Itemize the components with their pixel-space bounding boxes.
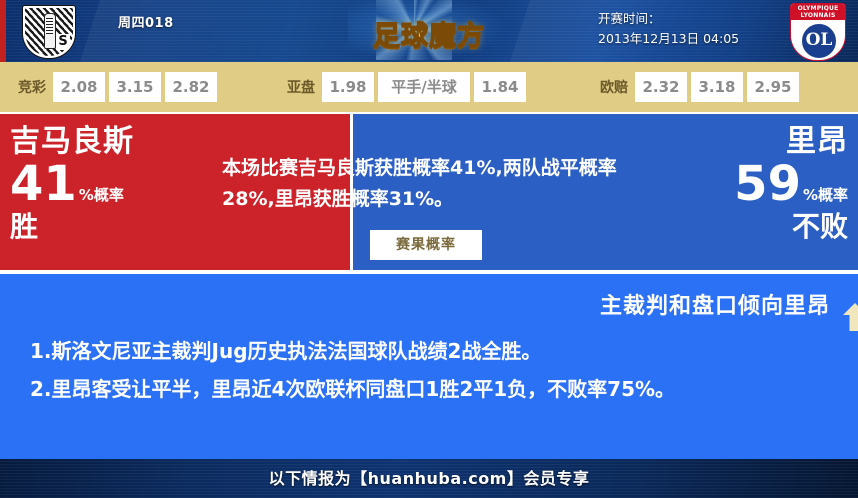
away-crest-band-line2: LYONNAIS (791, 12, 845, 19)
away-crest-monogram: OL (801, 23, 837, 59)
away-crest-shield: OLYMPIQUE LYONNAIS OL (790, 3, 846, 61)
home-probability-value: 41 (10, 160, 77, 208)
crest-figure (44, 13, 56, 49)
odds-yapan-away[interactable]: 1.84 (474, 72, 526, 102)
tilt-headline: 主裁判和盘口倾向里昂 (600, 288, 842, 320)
home-probability-suffix: %概率 (77, 188, 124, 208)
odds-group-oupei: 欧赔 2.32 3.18 2.95 (600, 72, 803, 102)
away-team-name: 里昂 (658, 124, 848, 160)
probability-section-tag: 赛果概率 (370, 230, 482, 260)
home-probability-row: 41 %概率 (10, 160, 190, 208)
odds-jingcai-away[interactable]: 2.82 (165, 72, 217, 102)
odds-yapan-home[interactable]: 1.98 (322, 72, 374, 102)
insight-panel: 主裁判和盘口倾向里昂 1.斯洛文尼亚主裁判Jug历史执法法国球队战绩2战全胜。 … (0, 274, 858, 459)
odds-yapan-handicap[interactable]: 平手/半球 (378, 72, 470, 102)
probability-summary-text: 本场比赛吉马良斯获胜概率41%,两队战平概率28%,里昂获胜概率31%。 (222, 153, 622, 215)
away-crest-band-line1: OLYMPIQUE (791, 5, 845, 12)
odds-label-jingcai: 竞彩 (18, 77, 46, 97)
odds-bar: 竞彩 2.08 3.15 2.82 亚盘 1.98 平手/半球 1.84 欧赔 … (0, 62, 858, 112)
crest-letter: S (56, 34, 70, 50)
match-number: 周四018 (118, 12, 174, 31)
odds-group-jingcai: 竞彩 2.08 3.15 2.82 (18, 72, 221, 102)
tilt-headline-text: 主裁判和盘口倾向里昂 (600, 288, 830, 320)
odds-jingcai-home[interactable]: 2.08 (53, 72, 105, 102)
member-notice-bar: 以下情报为【huanhuba.com】会员专享 (0, 459, 858, 498)
insight-bullet-2: 2.里昂客受让平半，里昂近4次欧联杯同盘口1胜2平1负，不败率75%。 (30, 370, 830, 408)
odds-oupei-draw[interactable]: 3.18 (691, 72, 743, 102)
header-diagonal-sheen (80, 0, 360, 62)
odds-label-oupei: 欧赔 (600, 77, 628, 97)
brand-logo: 足球魔方 (362, 6, 496, 54)
away-probability-row: 59 %概率 (658, 160, 848, 208)
away-crest-band: OLYMPIQUE LYONNAIS (791, 4, 845, 20)
home-team-block: 吉马良斯 41 %概率 胜 (10, 124, 190, 244)
home-team-name: 吉马良斯 (10, 124, 190, 160)
odds-group-yapan: 亚盘 1.98 平手/半球 1.84 (287, 72, 530, 102)
home-outcome-label: 胜 (10, 210, 190, 244)
kickoff-label: 开赛时间： (598, 9, 774, 29)
match-header: S 周四018 足球魔方 开赛时间： 2013年12月13日 04:05 OLY… (0, 0, 858, 62)
graphic-root: S 周四018 足球魔方 开赛时间： 2013年12月13日 04:05 OLY… (0, 0, 858, 498)
kickoff-value: 2013年12月13日 04:05 (598, 29, 774, 49)
insight-bullet-1: 1.斯洛文尼亚主裁判Jug历史执法法国球队战绩2战全胜。 (30, 332, 830, 370)
odds-jingcai-draw[interactable]: 3.15 (109, 72, 161, 102)
odds-oupei-away[interactable]: 2.95 (747, 72, 799, 102)
member-notice-text: 以下情报为【huanhuba.com】会员专享 (0, 459, 858, 498)
header-red-edge (0, 0, 6, 62)
away-team-block: 里昂 59 %概率 不败 (658, 124, 848, 244)
insight-bullets: 1.斯洛文尼亚主裁判Jug历史执法法国球队战绩2战全胜。 2.里昂客受让平半，里… (30, 332, 830, 408)
kickoff-time: 开赛时间： 2013年12月13日 04:05 (598, 9, 774, 49)
odds-row: 竞彩 2.08 3.15 2.82 亚盘 1.98 平手/半球 1.84 欧赔 … (0, 62, 858, 112)
odds-label-yapan: 亚盘 (287, 77, 315, 97)
away-outcome-label: 不败 (658, 210, 848, 244)
away-probability-suffix: %概率 (801, 188, 848, 208)
brand-logo-text: 足球魔方 (362, 14, 496, 53)
odds-oupei-home[interactable]: 2.32 (635, 72, 687, 102)
away-team-crest: OLYMPIQUE LYONNAIS OL (790, 3, 844, 59)
away-probability-value: 59 (734, 160, 801, 208)
home-team-crest: S (22, 5, 76, 59)
